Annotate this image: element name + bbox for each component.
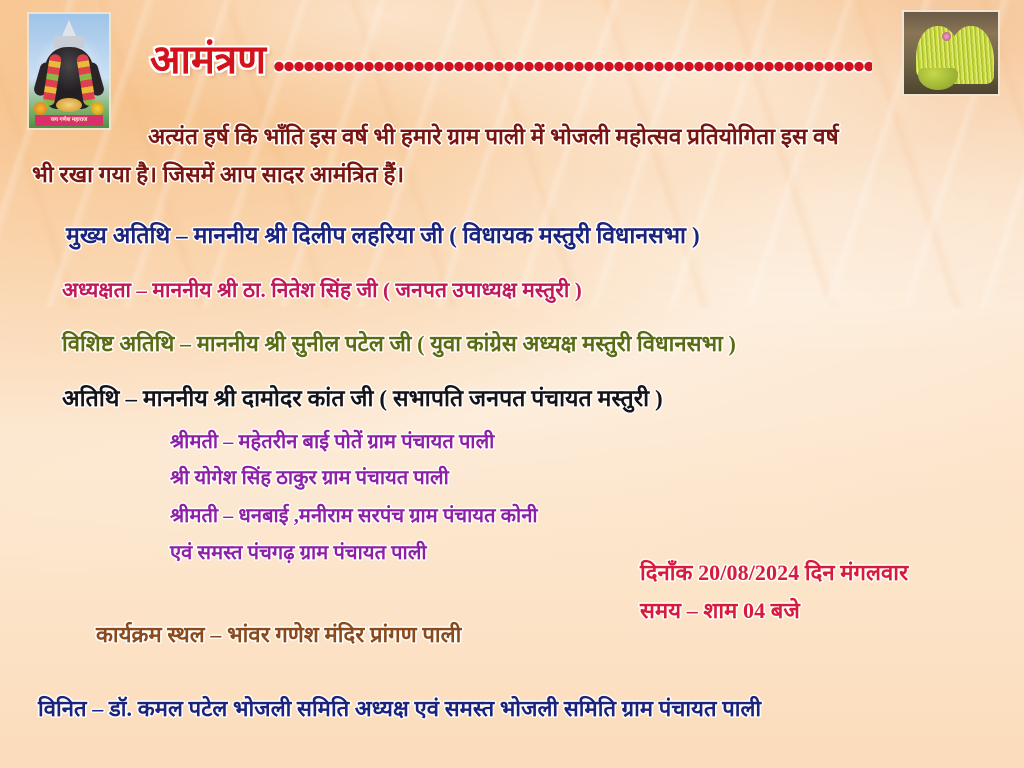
special-guest-line: विशिष्ट अतिथि – माननीय श्री सुनील पटेल ज… (62, 333, 736, 355)
idol-offerings (56, 98, 82, 112)
intro-paragraph-line-2: भी रखा गया है। जिसमें आप सादर आमंत्रित ह… (32, 164, 404, 187)
attendee-line-1: श्रीमती – महेतरीन बाई पोतें ग्राम पंचायत… (170, 432, 494, 452)
bhojli-pot (918, 68, 958, 90)
idol-photo-caption: जय गणेश महाराज (35, 115, 103, 126)
attendee-line-3: श्रीमती – धनबाई ,मनीराम सरपंच ग्राम पंचा… (170, 506, 538, 526)
page-title: आमंत्रण (150, 40, 266, 80)
attendee-line-2: श्री योगेश सिंह ठाकुर ग्राम पंचायत पाली (170, 468, 449, 488)
ganesh-idol-photo: जय गणेश महाराज (27, 12, 111, 130)
event-venue-line: कार्यक्रम स्थल – भांवर गणेश मंदिर प्रांग… (96, 624, 461, 646)
guest-line: अतिथि – माननीय श्री दामोदर कांत जी ( सभा… (62, 387, 663, 410)
bhojli-sprouts-photo (902, 10, 1000, 96)
event-date-line: दिनॉंक 20/08/2024 दिन मंगलवार (640, 562, 908, 584)
invitation-card: जय गणेश महाराज आमंत्रण अत्यंत हर्ष कि भॉ… (0, 0, 1024, 768)
dotted-rule-divider (274, 60, 872, 73)
chief-guest-line: मुख्य अतिथि – माननीय श्री दिलीप लहरिया ज… (66, 224, 700, 247)
bhojli-flower-icon (942, 32, 951, 41)
intro-paragraph-line-1: अत्यंत हर्ष कि भॉंति इस वर्ष भी हमारे ग्… (148, 126, 839, 149)
event-time-line: समय – शाम 04 बजे (640, 600, 800, 622)
organizer-footer-line: विनित – डॉ. कमल पटेल भोजली समिति अध्यक्ष… (38, 698, 761, 720)
attendee-line-4: एवं समस्त पंचगढ़ ग्राम पंचायत पाली (170, 543, 427, 563)
chairperson-line: अध्यक्षता – माननीय श्री ठा. नितेश सिंह ज… (62, 280, 582, 301)
flower-right-icon (91, 102, 104, 115)
flower-left-icon (34, 102, 47, 115)
